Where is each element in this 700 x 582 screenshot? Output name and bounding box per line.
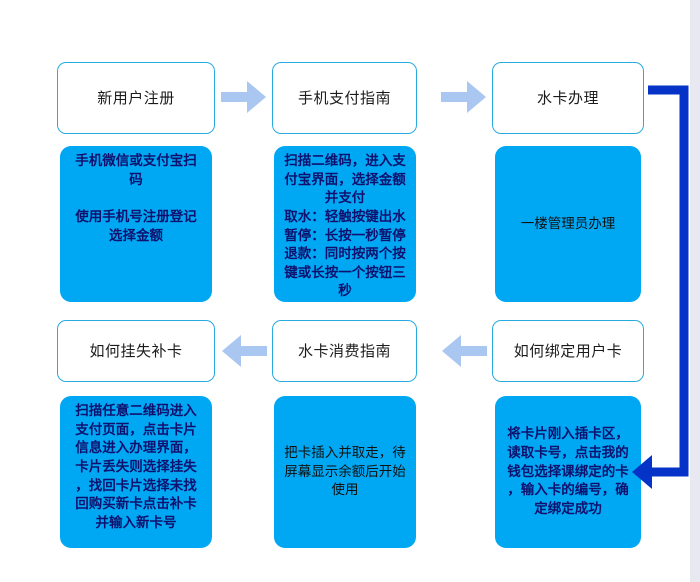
flow-node-label: 手机支付指南	[298, 88, 391, 109]
detail-card-mobile-payment-guide: 扫描二维码，进入支 付宝界面，选择金额 并支付 取水：轻触按键出水 暂停：长按一…	[274, 146, 416, 302]
scrollbar-track[interactable]	[690, 0, 700, 582]
detail-card-text: 将卡片刚入插卡区， 读取卡号，点击我的 钱包选择课绑定的卡 ，输入卡的编号，确 …	[502, 425, 634, 518]
flow-node-label: 如何挂失补卡	[89, 341, 182, 362]
detail-card-text: 扫描任意二维码进入 支付页面，点击卡片 信息进入办理界面， 卡片丢失则选择挂失 …	[67, 402, 205, 532]
detail-card-text: 扫描二维码，进入支 付宝界面，选择金额 并支付 取水：轻触按键出水 暂停：长按一…	[281, 152, 409, 301]
flow-node-mobile-payment-guide[interactable]: 手机支付指南	[272, 62, 417, 134]
detail-card-text: 手机微信或支付宝扫 码 使用手机号注册登记 选择金额	[67, 152, 205, 245]
flow-node-label: 水卡办理	[537, 88, 599, 109]
flow-node-label: 新用户注册	[97, 88, 175, 109]
flow-node-label: 水卡消费指南	[298, 341, 391, 362]
arrow-left-icon-bindcard-to-consumeguide	[441, 334, 487, 368]
flowchart-canvas: 新用户注册 手机支付指南 水卡办理 手机微信或支付宝扫 码 使用手机号注册登记 …	[0, 0, 700, 582]
detail-card-bind-user-card: 将卡片刚入插卡区， 读取卡号，点击我的 钱包选择课绑定的卡 ，输入卡的编号，确 …	[495, 396, 641, 548]
detail-card-text: 把卡插入并取走，待 屏幕显示余额后开始 使用	[281, 444, 409, 500]
detail-card-new-user-registration: 手机微信或支付宝扫 码 使用手机号注册登记 选择金额	[60, 146, 212, 302]
flow-node-lost-card-replacement[interactable]: 如何挂失补卡	[57, 320, 215, 382]
arrow-right-icon-register-to-payguide	[221, 80, 267, 114]
detail-card-lost-card-replacement: 扫描任意二维码进入 支付页面，点击卡片 信息进入办理界面， 卡片丢失则选择挂失 …	[60, 396, 212, 548]
flow-node-water-card-setup[interactable]: 水卡办理	[492, 62, 644, 134]
detail-card-text: 一楼管理员办理	[502, 215, 634, 234]
detail-card-water-card-setup: 一楼管理员办理	[495, 146, 641, 302]
flow-node-water-card-consumption-guide[interactable]: 水卡消费指南	[272, 320, 417, 382]
detail-card-water-card-consumption-guide: 把卡插入并取走，待 屏幕显示余额后开始 使用	[274, 396, 416, 548]
flow-node-label: 如何绑定用户卡	[514, 341, 623, 362]
arrow-left-icon-consumeguide-to-lostcard	[221, 334, 267, 368]
flow-node-new-user-registration[interactable]: 新用户注册	[57, 62, 215, 134]
flow-node-bind-user-card[interactable]: 如何绑定用户卡	[492, 320, 644, 382]
arrow-right-icon-payguide-to-cardsetup	[441, 80, 487, 114]
